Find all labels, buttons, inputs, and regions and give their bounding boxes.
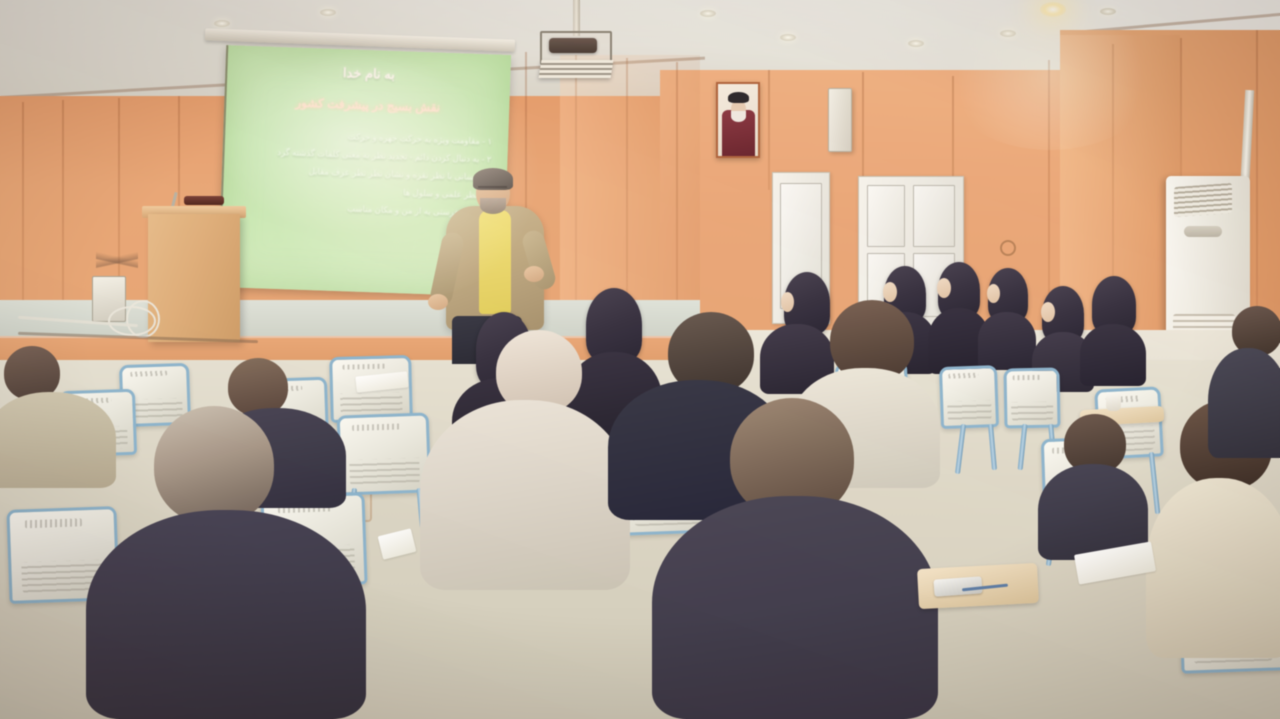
downlight-4 — [780, 34, 796, 41]
chair-empty-far-1[interactable] — [939, 365, 999, 429]
wall-panel-seam — [768, 70, 770, 190]
chair-brand-mark — [1013, 375, 1042, 380]
projector-louvre-panel — [539, 60, 614, 78]
chair-empty-far-2[interactable] — [1003, 368, 1060, 429]
torso — [1208, 348, 1280, 458]
door-handle[interactable] — [1000, 240, 1016, 256]
downlight-3 — [700, 10, 716, 17]
downlight-2 — [320, 9, 336, 16]
downlight-10 — [908, 40, 924, 47]
portrait-beard — [731, 111, 746, 122]
wooden-podium — [148, 214, 240, 342]
wall-panel-seam — [1180, 38, 1182, 188]
face — [937, 278, 951, 298]
chair-ribs — [1011, 401, 1054, 422]
torso — [0, 392, 116, 488]
chair-ribs — [340, 392, 403, 416]
presenter-glasses — [478, 186, 507, 195]
chair-ribs — [349, 458, 420, 488]
wall-portrait — [716, 82, 760, 158]
ac-logo-badge — [1184, 226, 1222, 237]
podium-microphone — [184, 196, 224, 205]
torso — [1080, 324, 1146, 386]
presenter-shirt — [479, 210, 511, 314]
head — [154, 406, 274, 524]
torso — [652, 496, 938, 719]
portrait-turban — [728, 92, 749, 103]
chair-ribs — [947, 400, 992, 423]
wall-speaker — [828, 88, 852, 152]
downlight-1 — [214, 20, 230, 27]
presenter-beard — [480, 198, 506, 214]
torso — [420, 400, 630, 590]
hijab-head — [586, 288, 642, 362]
presenter-left-hand — [428, 294, 448, 310]
torso — [1146, 478, 1280, 658]
wall-panel-seam — [1048, 60, 1050, 330]
photograph-scene: به نام خدا نقش بسیج در پیشرفت کشور ۱ - م… — [0, 0, 1280, 719]
door-right-panel-upper2 — [913, 185, 955, 247]
chair-ribs — [129, 398, 183, 421]
face — [883, 282, 897, 302]
projector-body — [549, 38, 597, 53]
torso — [978, 312, 1036, 370]
presenter-right-hand — [524, 266, 544, 282]
power-cable — [126, 300, 160, 338]
face — [987, 284, 1000, 303]
torso — [86, 510, 366, 719]
face — [1041, 302, 1055, 322]
door-right-panel-upper — [867, 185, 905, 247]
ac-top-grille — [1174, 183, 1232, 217]
downlight-6 — [1000, 30, 1016, 37]
downlight-ceiling-lamp — [1040, 2, 1066, 17]
paper-cup[interactable] — [1106, 392, 1121, 411]
downlight-8 — [1100, 8, 1116, 15]
face — [781, 292, 794, 312]
chair-empty-mid-3[interactable] — [337, 412, 432, 495]
